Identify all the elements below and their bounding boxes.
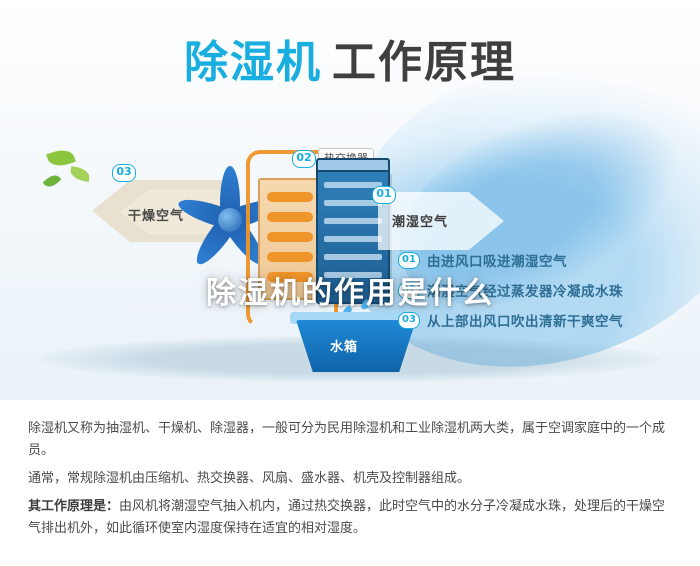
paragraph-3-lead: 其工作原理是： <box>28 499 119 514</box>
legend-number: 02 <box>398 282 420 299</box>
title-part-1: 除湿机 <box>184 37 322 88</box>
evaporator-fin <box>324 254 382 260</box>
page-root: 除湿机工作原理 干燥空气 03 02 热交换 <box>0 0 700 566</box>
coil-segment <box>267 272 313 282</box>
coil-segment <box>267 192 313 202</box>
page-title: 除湿机工作原理 <box>0 26 700 90</box>
paragraph-2: 通常，常规除湿机由压缩机、热交换器、风扇、盛水器、机壳及控制器组成。 <box>28 468 672 490</box>
coil-segment <box>267 232 313 242</box>
legend-number: 03 <box>398 312 420 329</box>
fan-hub <box>218 208 242 232</box>
paragraph-3: 其工作原理是：由风机将潮湿空气抽入机内，通过热交换器，此时空气中的水分子冷凝成水… <box>28 496 672 540</box>
evaporator-fin <box>324 182 382 188</box>
marker-03-icon: 03 <box>112 164 136 182</box>
legend-item: 02 潮湿空气经过蒸发器冷凝成水珠 <box>398 280 688 300</box>
legend-text: 潮湿空气经过蒸发器冷凝成水珠 <box>427 280 623 300</box>
humid-air-label: 潮湿空气 <box>392 211 448 230</box>
paragraph-1: 除湿机又称为抽湿机、干燥机、除湿器，一般可分为民用除湿机和工业除湿机两大类，属于… <box>28 418 672 462</box>
marker-01-icon: 01 <box>372 186 396 204</box>
evaporator-fin <box>324 236 382 242</box>
legend-text: 由进风口吸进潮湿空气 <box>427 250 567 270</box>
legend-item: 01 由进风口吸进潮湿空气 <box>398 250 688 270</box>
heat-exchanger-unit <box>258 178 322 300</box>
coil-segment <box>267 212 313 222</box>
diagram-legend: 01 由进风口吸进潮湿空气 02 潮湿空气经过蒸发器冷凝成水珠 03 从上部出风… <box>398 250 688 340</box>
diagram-illustration: 除湿机工作原理 干燥空气 03 02 热交换 <box>0 0 700 400</box>
water-tank-label: 水箱 <box>330 336 358 355</box>
legend-number: 01 <box>398 252 420 269</box>
evaporator-fin <box>324 218 382 224</box>
article-body: 除湿机又称为抽湿机、干燥机、除湿器，一般可分为民用除湿机和工业除湿机两大类，属于… <box>28 418 672 546</box>
evaporator-fin <box>324 272 382 278</box>
paragraph-3-text: 由风机将潮湿空气抽入机内，通过热交换器，此时空气中的水分子冷凝成水珠，处理后的干… <box>28 499 665 536</box>
leaf-icon <box>43 172 62 190</box>
title-part-2: 工作原理 <box>332 37 516 88</box>
marker-02-icon: 02 <box>292 150 316 168</box>
legend-text: 从上部出风口吹出清新干爽空气 <box>427 310 623 330</box>
legend-item: 03 从上部出风口吹出清新干爽空气 <box>398 310 688 330</box>
leaf-icon <box>69 166 91 182</box>
coil-segment <box>267 252 313 262</box>
